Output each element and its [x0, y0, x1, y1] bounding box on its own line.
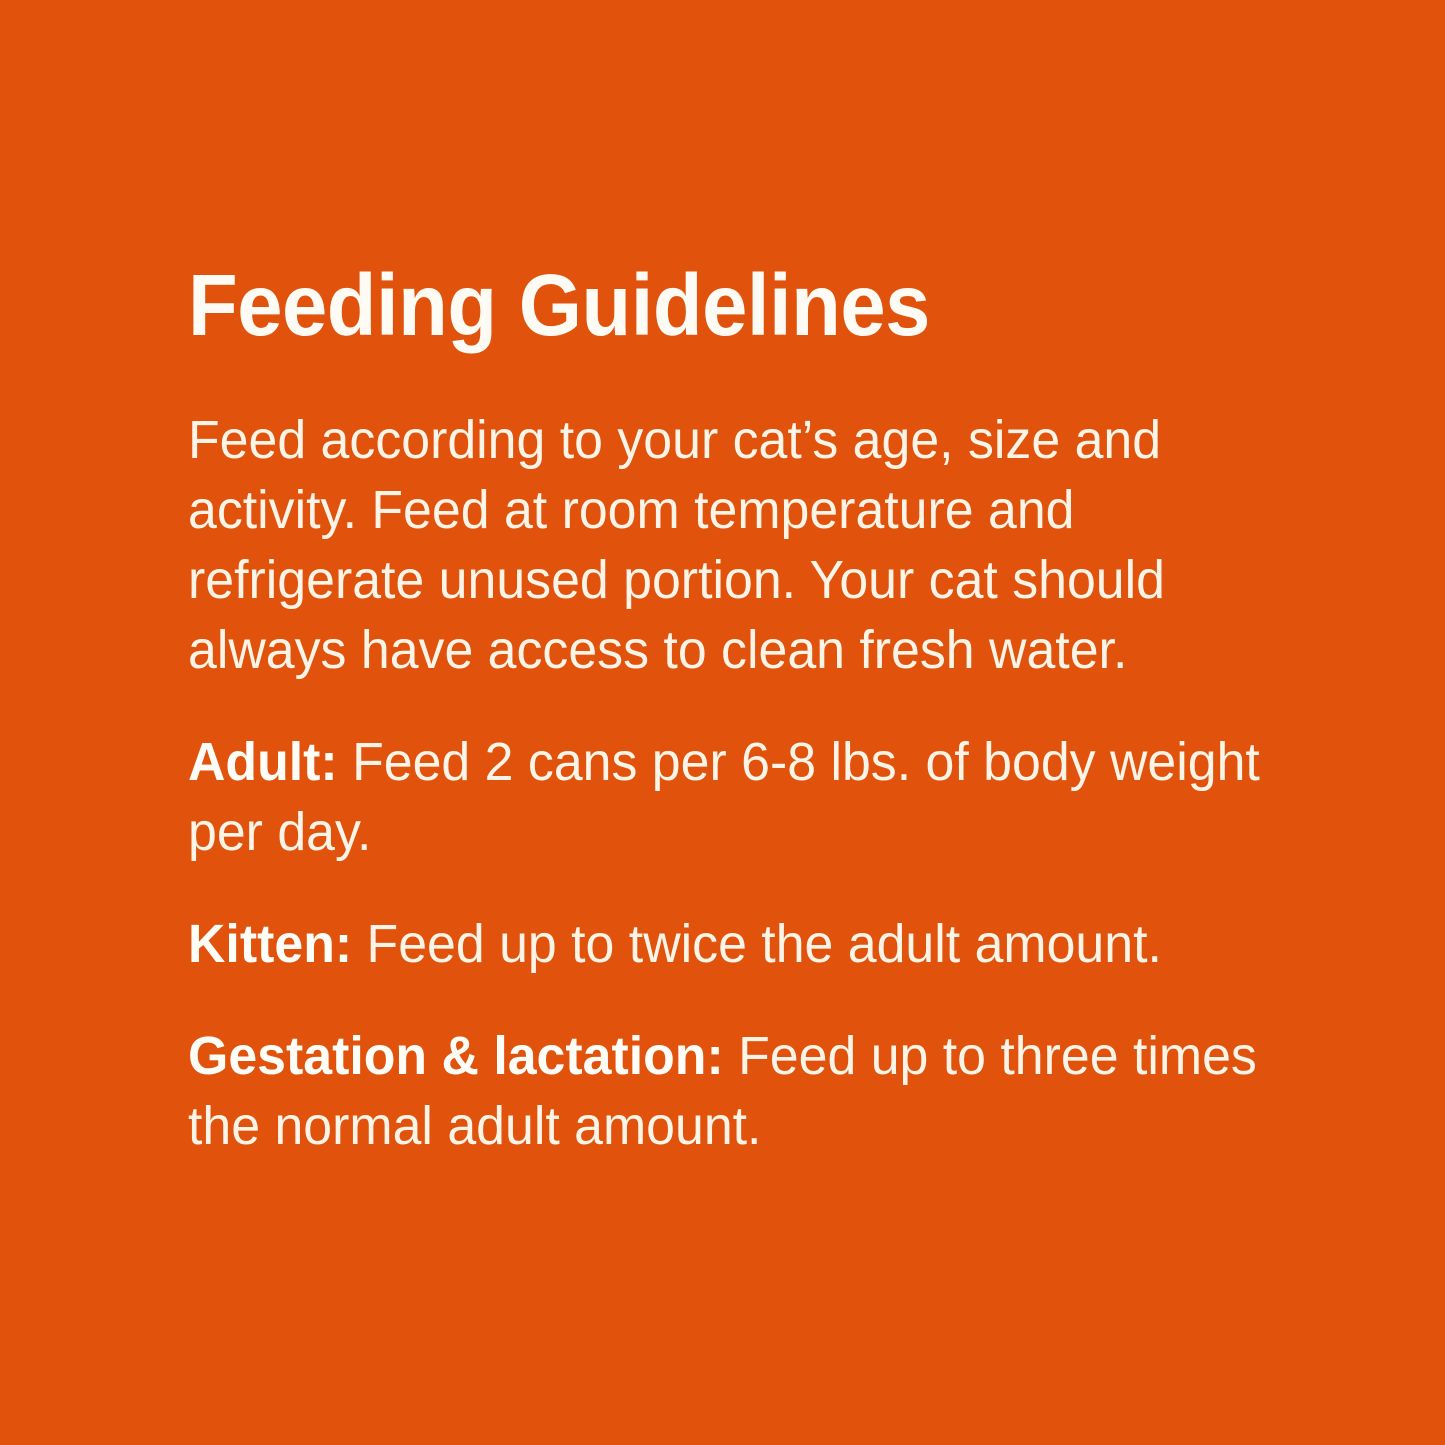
- feeding-guidelines-panel: Feeding Guidelines Feed according to you…: [0, 0, 1445, 1445]
- content-container: Feeding Guidelines Feed according to you…: [188, 262, 1273, 1161]
- gestation-lactation-label: Gestation & lactation:: [188, 1026, 724, 1086]
- adult-label: Adult:: [188, 732, 338, 792]
- kitten-feeding-paragraph: Kitten: Feed up to twice the adult amoun…: [188, 909, 1273, 979]
- adult-instruction-text: Feed 2 cans per 6-8 lbs. of body weight …: [188, 732, 1260, 862]
- adult-feeding-paragraph: Adult: Feed 2 cans per 6-8 lbs. of body …: [188, 727, 1273, 867]
- page-title: Feeding Guidelines: [188, 262, 1202, 349]
- kitten-label: Kitten:: [188, 914, 352, 974]
- intro-paragraph: Feed according to your cat’s age, size a…: [188, 405, 1273, 685]
- gestation-feeding-paragraph: Gestation & lactation: Feed up to three …: [188, 1021, 1273, 1161]
- kitten-instruction-text: Feed up to twice the adult amount.: [352, 914, 1162, 974]
